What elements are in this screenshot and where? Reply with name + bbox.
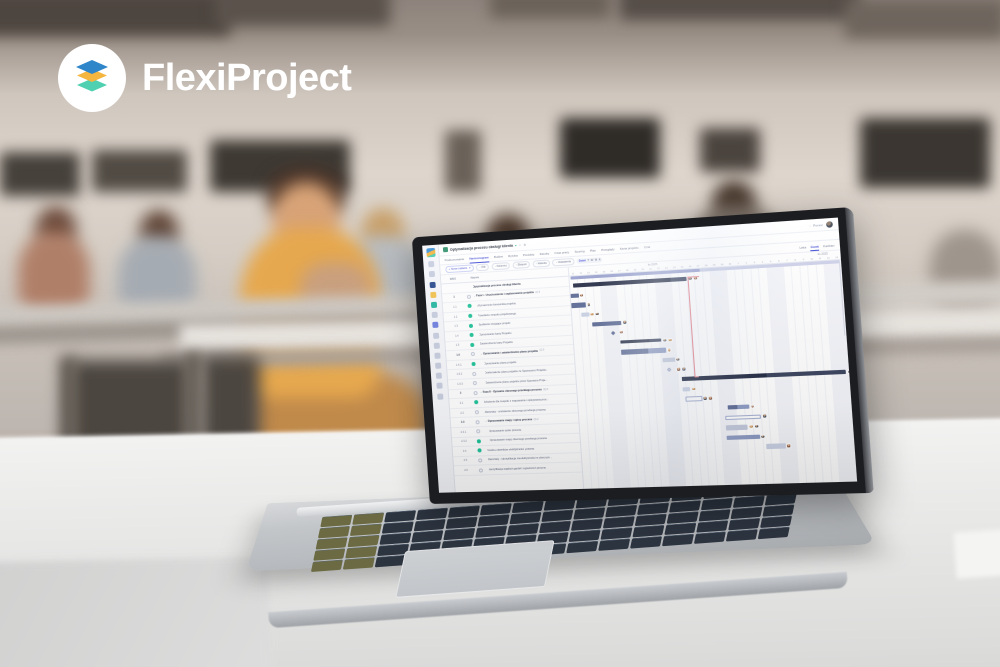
row-name-cell: Warsztaty - omówienie obecnego przebiegu… — [480, 407, 578, 414]
keyboard-key[interactable] — [320, 515, 352, 527]
sidebar-item-calendar[interactable] — [431, 302, 437, 308]
status-badge[interactable] — [473, 391, 477, 395]
tab-czat[interactable]: Czat — [644, 245, 651, 250]
view-switcher: ListaGanttKanban — [799, 243, 834, 249]
sidebar-item-clock[interactable] — [432, 312, 438, 318]
toolbar-ustawienia-button[interactable]: ◦Ustawienia — [552, 258, 574, 267]
sidebar-item-chart[interactable] — [434, 342, 440, 348]
gantt-bar-progress — [571, 293, 579, 298]
row-wbs: 2.5 — [453, 459, 477, 463]
gantt-assignee-avatar[interactable] — [786, 443, 791, 448]
plus-icon: + — [449, 268, 451, 271]
app-main: Optymalizacja procesu obsługi klienta ▾ … — [439, 218, 857, 493]
status-badge[interactable] — [469, 333, 473, 337]
column-header-name: Nazwa — [465, 276, 479, 280]
gantt-bar-progress — [727, 405, 737, 410]
status-badge[interactable] — [474, 400, 478, 404]
row-badge: (1) 2 — [534, 418, 539, 420]
toolbar-button-label: Nowe zadanie — [451, 267, 467, 271]
gantt-bar[interactable] — [571, 293, 579, 298]
keyboard-key[interactable] — [480, 503, 512, 515]
row-wbs: 1.6.2 — [448, 372, 472, 376]
gantt-day-label: 13 — [584, 272, 592, 275]
star-icon[interactable]: ☆ — [518, 243, 521, 247]
keyboard-key[interactable] — [318, 526, 350, 538]
gantt-day-label: 18 — [623, 269, 631, 272]
keyboard-key[interactable] — [350, 524, 382, 536]
gantt-day-label: 10 — [808, 258, 816, 261]
flexiproject-logo-icon[interactable] — [426, 248, 435, 258]
gantt-assignee-avatar[interactable] — [760, 434, 765, 439]
keyboard-key[interactable] — [762, 505, 794, 517]
row-task-name: Opracowanie mapy i opisu procesu — [488, 418, 533, 423]
row-wbs: 1.1 — [443, 305, 467, 309]
row-task-name: Warsztaty - omówienie obecnego przebiegu… — [484, 408, 546, 413]
gantt-day-label: 4 — [758, 261, 766, 264]
keyboard-key[interactable] — [634, 514, 666, 526]
tab-ryzyka[interactable]: Ryzyka — [508, 253, 518, 258]
gantt-bar[interactable] — [571, 303, 586, 308]
row-task-name: Opracowanie opisu procesu — [489, 428, 522, 432]
keyboard-key[interactable] — [446, 517, 478, 529]
tab-przeglądy[interactable]: Przeglądy — [601, 247, 615, 252]
chevron-down-icon[interactable]: ▾ — [469, 267, 471, 270]
row-wbs: 2.3.2 — [452, 440, 476, 444]
row-wbs: 1.3 — [444, 324, 468, 328]
row-name-cell: Opracowanie planu projektu — [476, 358, 574, 366]
keyboard-key[interactable] — [316, 537, 348, 549]
gantt-day-label: 3 — [750, 261, 758, 264]
gantt-assignee-avatar[interactable] — [667, 347, 672, 352]
row-task-name: Wyznaczenie kierownika projektu — [477, 302, 516, 307]
gear-icon: ◦ — [556, 261, 557, 264]
tab-karta-projektu[interactable]: Karta projektu — [620, 246, 639, 251]
gantt-day-label: 14 — [592, 271, 600, 274]
app-body: WBS Nazwa Optymalizacja procesu obsługi … — [441, 250, 857, 492]
gantt-bar-progress — [571, 303, 586, 308]
row-wbs: 1 — [442, 295, 466, 299]
page-title: Optymalizacja procesu obsługi klienta — [450, 243, 513, 251]
status-badge[interactable] — [468, 304, 472, 308]
toolbar-filtr-button[interactable]: ◦Filtr — [476, 263, 489, 271]
tab-zasoby[interactable]: Zasoby — [539, 251, 549, 256]
gantt-assignee-avatar[interactable] — [662, 338, 667, 343]
keyboard-key[interactable] — [605, 505, 637, 517]
gantt-day-label: 12 — [824, 257, 832, 260]
gantt-day-label: 26 — [686, 265, 694, 268]
row-wbs: 2.3.1 — [451, 430, 475, 434]
status-badge[interactable] — [470, 343, 474, 347]
gantt-assignee-avatar[interactable] — [622, 320, 627, 325]
laptop-screen: Optymalizacja procesu obsługi klienta ▾ … — [422, 218, 857, 493]
laptop-lid: Optymalizacja procesu obsługi klienta ▾ … — [412, 207, 874, 504]
gantt-day-label: 21 — [647, 268, 655, 271]
gantt-day-label: 30 — [718, 263, 726, 266]
tab-scoring[interactable]: Scoring — [574, 249, 584, 254]
row-wbs: 1.6 — [446, 353, 470, 357]
keyboard-key[interactable] — [311, 560, 343, 572]
row-task-name: Zatwierdzenie karty Projektu — [480, 341, 513, 346]
keyboard-key[interactable] — [443, 528, 475, 540]
keyboard-key[interactable] — [568, 530, 600, 542]
row-task-name: Opracowanie planu projektu — [484, 360, 517, 365]
tab-harmonogram[interactable]: Harmonogram — [469, 255, 489, 260]
keyboard-key[interactable] — [343, 558, 375, 570]
project-square-icon — [443, 247, 448, 252]
keyboard-key[interactable] — [728, 518, 760, 530]
row-badge: (1) 6 — [543, 389, 548, 391]
zoom-option-t[interactable]: T — [587, 259, 589, 262]
flexiproject-app: Optymalizacja procesu obsługi klienta ▾ … — [422, 218, 857, 493]
gantt-day-label: 5 — [767, 260, 775, 263]
gantt-day-label: 24 — [670, 266, 678, 269]
keyboard-key[interactable] — [475, 526, 507, 538]
gantt-day-label: 27 — [694, 265, 702, 268]
keyboard-key[interactable] — [760, 516, 792, 528]
gantt-bar[interactable] — [766, 444, 786, 449]
gantt-day-label: 16 — [608, 270, 616, 273]
keyboard-key[interactable] — [632, 525, 664, 537]
gantt-day-label: 17 — [615, 270, 623, 273]
zoom-option-m[interactable]: M — [595, 259, 597, 262]
status-badge[interactable] — [477, 439, 481, 443]
keyboard-key[interactable] — [313, 549, 345, 561]
keyboard-key[interactable] — [507, 523, 539, 535]
status-badge[interactable] — [471, 362, 475, 366]
history-icon: ◦ — [536, 262, 537, 265]
tab-czas-pracy[interactable]: Czas pracy — [554, 250, 569, 255]
keyboard-key[interactable] — [733, 496, 765, 508]
zoom-group[interactable]: Dzień T W M K — [577, 257, 603, 264]
status-badge[interactable] — [469, 323, 473, 327]
toolbar-eksport-button[interactable]: ◦Eksport — [512, 261, 530, 269]
keyboard-key[interactable] — [603, 516, 635, 528]
keyboard-key[interactable] — [637, 503, 669, 515]
gantt-day-label: 29 — [710, 264, 718, 267]
status-badge[interactable] — [467, 295, 471, 299]
avatar[interactable] — [825, 219, 834, 228]
gantt-day-label: 28 — [702, 264, 710, 267]
row-task-name: Spotkanie inicjujące projekt — [478, 322, 510, 327]
gantt-day-label: 25 — [678, 266, 686, 269]
bell-icon[interactable]: ◌ — [809, 223, 811, 227]
keyboard-key[interactable] — [696, 521, 728, 533]
status-badge[interactable] — [479, 468, 483, 472]
row-badge: (1) 6 — [535, 292, 540, 294]
row-wbs: 2.2 — [450, 411, 474, 415]
row-wbs: 2.6 — [454, 469, 478, 473]
sidebar-item-grid[interactable] — [429, 271, 435, 277]
row-name-cell: Doskonalenie planu projektu ze Sponsorem… — [477, 368, 575, 376]
row-task-name: Powołanie zespołu projektowego — [478, 312, 517, 317]
sidebar-item-list[interactable] — [434, 352, 440, 358]
sidebar-item-portfolio[interactable] — [430, 292, 436, 298]
gantt-day-label: 7 — [783, 259, 791, 262]
toolbar-button-label: Eksport — [518, 263, 527, 267]
row-task-name: Identyfikacja wąskich gardeł i ogranicze… — [488, 467, 546, 472]
gantt-bar[interactable] — [726, 425, 748, 430]
keyboard-key[interactable] — [539, 521, 571, 533]
gantt-day-label: 2 — [742, 262, 750, 265]
row-task-name: Analiza mierników efektywności procesu — [487, 447, 535, 452]
keyboard-key[interactable] — [411, 530, 443, 542]
sidebar-item-link[interactable] — [437, 393, 443, 399]
keyboard-key[interactable] — [512, 501, 544, 513]
view-lista[interactable]: Lista — [799, 245, 806, 250]
status-badge[interactable] — [477, 449, 481, 453]
gantt-day-label: 23 — [662, 267, 670, 270]
keyboard-key[interactable] — [669, 500, 701, 512]
sidebar-item-dashboard[interactable] — [428, 261, 434, 267]
status-badge[interactable] — [472, 372, 476, 376]
keyboard-key[interactable] — [573, 507, 605, 519]
status-badge[interactable] — [475, 420, 479, 424]
row-name-cell: Identyfikacja wąskich gardeł i ogranicze… — [484, 465, 582, 471]
table-body: Optymalizacja procesu obsługi klienta1⌄F… — [441, 277, 582, 476]
gantt-day-label: 9 — [799, 258, 807, 261]
keyboard-key[interactable] — [379, 533, 411, 545]
gantt-day-label: 20 — [639, 268, 647, 271]
zoom-level-label[interactable]: Dzień — [579, 259, 586, 263]
row-task-name: Faza II - Opisanie obecnego przebiegu pr… — [483, 389, 542, 395]
gantt-day-label: 15 — [600, 271, 608, 274]
toolbar-button-label: Filtr — [481, 266, 486, 269]
tab-budżet[interactable]: Budżet — [494, 254, 503, 259]
status-badge[interactable] — [475, 410, 479, 414]
keyboard-key[interactable] — [664, 523, 696, 535]
toolbar-button-label: Historia — [538, 262, 547, 266]
view-gantt[interactable]: Gantt — [810, 244, 819, 249]
row-wbs: 1.4 — [445, 334, 469, 338]
row-task-name: Warsztaty - identyfikacja nieefektywnośc… — [488, 457, 553, 462]
sidebar-item-heart[interactable] — [436, 373, 442, 379]
sidebar-item-filter[interactable] — [432, 322, 438, 328]
keyboard-key[interactable] — [348, 535, 380, 547]
row-wbs: 2 — [449, 392, 473, 396]
gantt-month-label: lis 2025 — [818, 252, 828, 256]
row-wbs: 1.5 — [446, 343, 470, 347]
gantt-day-label: 6 — [775, 260, 783, 263]
row-name-cell: ⌄Faza II - Opisanie obecnego przebiegu p… — [478, 387, 576, 394]
keyboard-key[interactable] — [416, 508, 448, 520]
status-badge[interactable] — [468, 314, 472, 318]
status-badge[interactable] — [471, 352, 475, 356]
row-wbs: 2.4 — [453, 449, 477, 453]
gantt-critical-path-bottom — [695, 376, 699, 377]
keyboard-key[interactable] — [600, 528, 632, 540]
gantt-assignee-avatar[interactable] — [691, 386, 696, 391]
row-task-name: Doskonalenie planu projektu ze Sponsorem… — [485, 369, 547, 375]
keyboard-key[interactable] — [352, 512, 384, 524]
gantt-assignee-avatar[interactable] — [847, 369, 852, 374]
toolbar-button-label: Ustawienia — [558, 260, 571, 264]
keyboard-key[interactable] — [571, 519, 603, 531]
zoom-option-k[interactable]: K — [599, 258, 601, 261]
gantt-day-label: 11 — [569, 273, 577, 276]
tab-plan[interactable]: Plan — [590, 248, 596, 252]
keyboard-key[interactable] — [477, 514, 509, 526]
status-badge[interactable] — [473, 381, 477, 385]
sidebar-item-target[interactable] — [433, 332, 439, 338]
gantt-month-label: lis 2025 — [648, 263, 658, 267]
laptop-base-front — [268, 572, 848, 628]
gantt-day-label: 19 — [631, 269, 639, 272]
gantt-chart: lis 2025lis 2025 11121314151617181920212… — [569, 250, 857, 488]
laptop: Optymalizacja procesu obsługi klienta ▾ … — [0, 0, 1000, 667]
gantt-assignee-avatar[interactable] — [708, 396, 713, 401]
keyboard-key[interactable] — [345, 546, 377, 558]
tab-podsumowanie[interactable]: Podsumowanie — [445, 257, 465, 262]
help-button[interactable]: Pomoc — [813, 222, 823, 227]
row-badge: (1) 3 — [539, 350, 544, 352]
gantt-assignee-avatar[interactable] — [667, 337, 672, 342]
row-name-cell: Analiza mierników efektywności procesu — [482, 446, 580, 452]
row-name-cell: Zatwierdzenie planu projektu przez Spons… — [478, 377, 576, 384]
row-name-cell: ⌄Opracowanie mapy i opisu procesu(1) 2 — [480, 416, 578, 423]
keyboard-key[interactable] — [541, 510, 573, 522]
row-wbs: 1.6.3 — [448, 382, 472, 386]
task-table: WBS Nazwa Optymalizacja procesu obsługi … — [441, 267, 584, 492]
gantt-day-label: 22 — [654, 267, 662, 270]
keyboard-key[interactable] — [448, 505, 480, 517]
row-wbs: 1.2 — [444, 315, 468, 319]
keyboard-key[interactable] — [730, 507, 762, 519]
screenshot-stage: FlexiProject — [0, 0, 1000, 667]
gantt-day-label: 11 — [816, 257, 824, 260]
row-wbs: 2.1 — [450, 401, 474, 405]
gantt-bar[interactable] — [686, 396, 703, 401]
keyboard-key[interactable] — [382, 521, 414, 533]
row-task-name: Szkolenie dla zespołu z mapowania i opis… — [484, 398, 549, 404]
status-badge[interactable] — [476, 429, 480, 433]
keyboard-key[interactable] — [666, 512, 698, 524]
keyboard-key[interactable] — [384, 510, 416, 522]
row-task-name: Faza I - Uruchomienie i zaplanowanie pro… — [476, 291, 534, 297]
row-wbs: 2.3 — [451, 420, 475, 424]
row-task-name: Opracowanie mapy obecnego przebiegu proc… — [489, 437, 547, 442]
row-wbs — [442, 287, 466, 288]
row-name-cell: Opracowanie opisu procesu — [481, 426, 579, 433]
gantt-assignee-avatar[interactable] — [682, 367, 687, 372]
settings-icon[interactable]: ⚙ — [523, 242, 526, 246]
gantt-day-label: 8 — [791, 259, 799, 262]
keyboard-key[interactable] — [698, 509, 730, 521]
toolbar-historia-button[interactable]: ◦Historia — [532, 259, 550, 267]
column-header-wbs: WBS — [441, 277, 465, 281]
gantt-day-label: 13 — [832, 256, 840, 259]
keyboard-key[interactable] — [414, 519, 446, 531]
row-task-name: Opracowanie karty Projektu — [479, 332, 512, 337]
keyboard-key[interactable] — [509, 512, 541, 524]
row-task-name: Opracowanie i zatwierdzenie planu projek… — [483, 350, 538, 356]
sidebar-item-users[interactable] — [436, 383, 442, 389]
row-wbs: 1.6.1 — [447, 363, 471, 367]
gantt-day-label: 12 — [577, 272, 585, 275]
gantt-day-label: 1 — [734, 263, 742, 266]
gantt-assignee-avatar[interactable] — [762, 414, 767, 419]
view-kanban[interactable]: Kanban — [823, 243, 834, 248]
chevron-down-icon[interactable]: ▾ — [515, 243, 517, 247]
status-badge[interactable] — [478, 458, 482, 462]
toolbar-kolumny-button[interactable]: ◦Kolumny — [491, 262, 510, 270]
row-name-cell: Opracowanie mapy obecnego przebiegu proc… — [482, 436, 580, 442]
zoom-option-w[interactable]: W — [591, 259, 594, 262]
tab-produkty[interactable]: Produkty — [523, 252, 535, 257]
toolbar-nowe-zadanie-button[interactable]: +Nowe zadanie▾ — [445, 264, 474, 273]
sidebar-item-projects[interactable] — [430, 281, 436, 287]
gantt-bar[interactable] — [682, 387, 690, 392]
row-task-name: Optymalizacja procesu obsługi klienta — [473, 282, 521, 288]
row-name-cell: Warsztaty - identyfikacja nieefektywnośc… — [483, 456, 581, 462]
sidebar-item-document[interactable] — [435, 363, 441, 369]
gantt-day-label: 31 — [726, 263, 734, 266]
row-name-cell: Szkolenie dla zespołu z mapowania i opis… — [479, 397, 577, 404]
row-task-name: Zatwierdzenie planu projektu przez Spons… — [485, 379, 547, 385]
toolbar-button-label: Kolumny — [497, 264, 507, 268]
keyboard-key[interactable] — [701, 498, 733, 510]
